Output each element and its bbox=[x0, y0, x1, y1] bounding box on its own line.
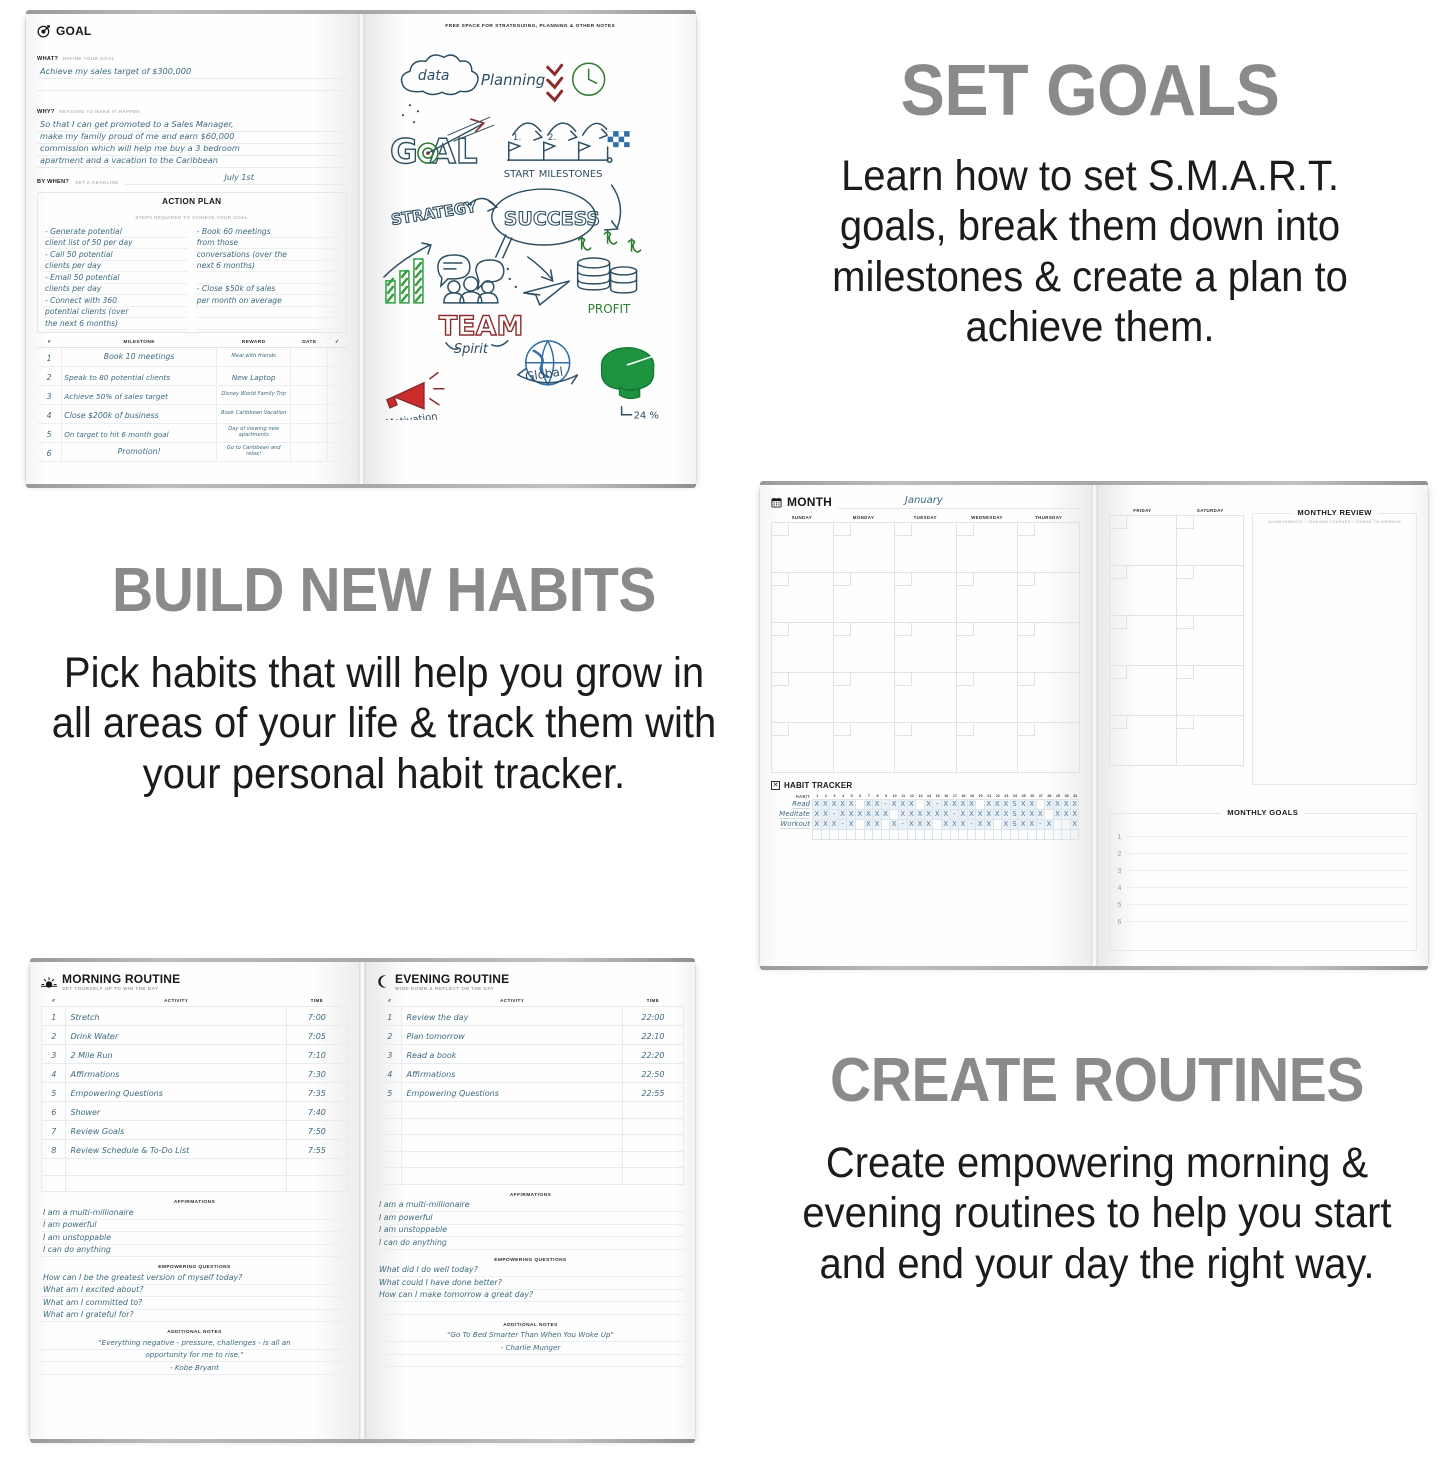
calendar-day-cell[interactable] bbox=[834, 723, 896, 773]
col-time: TIME bbox=[286, 998, 347, 1007]
habit-row[interactable]: Meditate XX-XXXXXXXXXXXX-XXXXXXSXXXXXX bbox=[771, 809, 1080, 819]
row-number[interactable]: 3 bbox=[378, 1045, 402, 1064]
evening-questions-lines[interactable]: What did I do well today? What could I h… bbox=[377, 1265, 684, 1315]
chevrons-doodle bbox=[547, 65, 561, 100]
svg-text:Global: Global bbox=[524, 365, 564, 384]
calendar-day-cell[interactable] bbox=[1177, 666, 1244, 716]
calendar-day-cell[interactable] bbox=[1018, 673, 1080, 723]
plan-left-line: - Connect with 360 bbox=[45, 296, 117, 305]
row-date[interactable] bbox=[291, 404, 328, 423]
row-number: 1 bbox=[47, 354, 52, 363]
row-activity[interactable] bbox=[402, 1151, 622, 1168]
row-number[interactable] bbox=[378, 1135, 402, 1152]
table-row[interactable]: 2Drink Water7:05 bbox=[42, 1026, 348, 1045]
row-date[interactable] bbox=[291, 366, 328, 385]
plan-left-line: - Generate potential bbox=[45, 227, 122, 236]
row-activity[interactable] bbox=[402, 1102, 622, 1119]
evening-routine-page: EVENING ROUTINE WIND DOWN & REFLECT ON T… bbox=[366, 962, 695, 1439]
row-number[interactable]: 6 bbox=[42, 1102, 66, 1121]
table-row[interactable]: 5Empowering Questions22:55 bbox=[378, 1083, 684, 1102]
svg-text:TEAM: TEAM bbox=[438, 311, 522, 342]
weekday-saturday: SATURDAY bbox=[1176, 508, 1244, 515]
table-row[interactable]: 1 Book 10 meetings Meal with friends bbox=[37, 347, 347, 366]
by-when-field[interactable]: BY WHEN? SET A DEADLINE July 1st bbox=[37, 173, 347, 185]
row-time-value: 22:10 bbox=[641, 1032, 664, 1041]
table-row[interactable]: 2 Speak to 80 potential clients New Lapt… bbox=[37, 366, 347, 385]
row-check[interactable] bbox=[328, 423, 347, 442]
goal-number: 2 bbox=[1118, 851, 1122, 858]
table-row[interactable]: 6 Promotion! Go to Caribbean and relax! bbox=[37, 442, 347, 461]
row-activity[interactable]: Affirmations bbox=[66, 1064, 286, 1083]
habit-marks-row[interactable]: XXX-XXXX-XXXXXX-XXXSXX-XX bbox=[813, 819, 1080, 829]
row-activity[interactable] bbox=[66, 1175, 286, 1192]
calendar-day-cell[interactable] bbox=[957, 523, 1019, 573]
row-reward: New Laptop bbox=[232, 373, 276, 382]
habit-tracker-grid: HABIT 1234567891011121314151617181920212… bbox=[771, 794, 1080, 839]
col-activity: ACTIVITY bbox=[402, 998, 622, 1007]
morning-table-header: # ACTIVITY TIME bbox=[42, 998, 348, 1007]
morning-routine-table: # ACTIVITY TIME 1Stretch7:002Drink Water… bbox=[41, 998, 348, 1192]
table-row[interactable]: 4 Close $200k of business Book Caribbean… bbox=[37, 404, 347, 423]
row-number[interactable] bbox=[378, 1168, 402, 1185]
spirit-doodle: Spirit bbox=[453, 342, 488, 357]
calendar-day-cell[interactable] bbox=[895, 573, 957, 623]
feature-create-routines: CREATE ROUTINES Create empowering mornin… bbox=[752, 1050, 1442, 1289]
svg-text:2.: 2. bbox=[547, 133, 556, 143]
weekday-tuesday: TUESDAY bbox=[894, 515, 956, 522]
row-number[interactable]: 2 bbox=[42, 1026, 66, 1045]
table-row[interactable]: 1Stretch7:00 bbox=[42, 1007, 348, 1026]
col-time: TIME bbox=[622, 998, 683, 1007]
row-number[interactable]: 1 bbox=[42, 1007, 66, 1026]
affirmation-line: I am unstoppable bbox=[43, 1233, 111, 1242]
calendar-day-cell[interactable] bbox=[1177, 616, 1244, 666]
row-time[interactable]: 7:40 bbox=[286, 1102, 347, 1121]
row-activity[interactable]: Plan tomorrow bbox=[402, 1026, 622, 1045]
month-spread-gutter bbox=[1091, 485, 1098, 966]
calendar-grid-right bbox=[1109, 515, 1245, 766]
svg-text:STRATEGY: STRATEGY bbox=[389, 198, 477, 229]
table-row[interactable]: 3 Achieve 50% of sales target Disney Wor… bbox=[37, 385, 347, 404]
row-time[interactable] bbox=[622, 1102, 683, 1119]
goal-number: 1 bbox=[1118, 834, 1122, 841]
row-activity[interactable]: Affirmations bbox=[402, 1064, 622, 1083]
row-number[interactable] bbox=[42, 1159, 66, 1176]
morning-rows: 1Stretch7:002Drink Water7:0532 Mile Run7… bbox=[42, 1007, 348, 1192]
row-time[interactable]: 7:00 bbox=[286, 1007, 347, 1026]
profit-coins-doodle: PROFIT bbox=[577, 231, 640, 316]
monthly-review-subtitle: ACHIEVEMENTS / LESSONS LEARNED / THINGS … bbox=[1253, 520, 1416, 524]
row-date[interactable] bbox=[291, 385, 328, 404]
row-time[interactable]: 22:00 bbox=[622, 1007, 683, 1026]
row-number: 6 bbox=[47, 449, 52, 458]
table-row[interactable]: 8Review Schedule & To-Do List7:55 bbox=[42, 1140, 348, 1159]
routine-spread-gutter bbox=[359, 962, 366, 1439]
goal-page-header: GOAL bbox=[37, 24, 347, 38]
row-number: 3 bbox=[47, 392, 52, 401]
why-line-1: So that I can get promoted to a Sales Ma… bbox=[40, 119, 234, 129]
plan-left-line: clients per day bbox=[45, 261, 101, 270]
row-activity-value: Review Goals bbox=[70, 1127, 124, 1136]
table-row[interactable]: 6Shower7:40 bbox=[42, 1102, 348, 1121]
row-number-value: 7 bbox=[51, 1127, 56, 1136]
plan-left-line: - Email 50 potential bbox=[45, 273, 120, 282]
calendar-day-cell[interactable] bbox=[834, 573, 896, 623]
calendar-day-cell[interactable] bbox=[1018, 723, 1080, 773]
why-input-line[interactable]: apartment and a vacation to the Caribbea… bbox=[37, 156, 347, 168]
goal-number: 5 bbox=[1118, 902, 1122, 909]
row-number-value: 1 bbox=[51, 1013, 56, 1022]
monthly-goal-row[interactable]: 2 bbox=[1110, 841, 1417, 858]
monthly-goal-row[interactable]: 6 bbox=[1110, 909, 1417, 926]
calendar-day-cell[interactable] bbox=[957, 573, 1019, 623]
row-time[interactable] bbox=[622, 1168, 683, 1185]
what-input-line[interactable]: Achieve my sales target of $300,000 bbox=[37, 67, 347, 79]
month-value: January bbox=[905, 495, 943, 506]
table-row[interactable]: 4Affirmations7:30 bbox=[42, 1064, 348, 1083]
calendar-day-cell[interactable] bbox=[1018, 523, 1080, 573]
row-check[interactable] bbox=[328, 366, 347, 385]
row-activity[interactable] bbox=[66, 1159, 286, 1176]
habit-marks-row[interactable]: XX-XXXXXXXXXXXX-XXXXXXSXXXXXX bbox=[813, 809, 1080, 819]
morning-routine-subtitle: SET YOURSELF UP TO WIN THE DAY bbox=[62, 986, 180, 991]
plan-left-line: the next 6 months) bbox=[45, 319, 118, 328]
monthly-goal-row[interactable]: 3 bbox=[1110, 858, 1417, 875]
table-row[interactable] bbox=[378, 1151, 684, 1168]
table-row[interactable]: 3Read a book22:20 bbox=[378, 1045, 684, 1064]
row-time[interactable] bbox=[286, 1175, 347, 1192]
calendar-day-cell[interactable] bbox=[895, 673, 957, 723]
row-time-value: 7:30 bbox=[308, 1070, 326, 1079]
calendar-day-cell[interactable] bbox=[1177, 716, 1244, 766]
row-date[interactable] bbox=[291, 347, 328, 366]
calendar-day-cell[interactable] bbox=[957, 623, 1019, 673]
plan-left-line: - Call 50 potential bbox=[45, 250, 113, 259]
calendar-day-cell[interactable] bbox=[1018, 573, 1080, 623]
row-number[interactable] bbox=[42, 1175, 66, 1192]
row-number[interactable]: 7 bbox=[42, 1121, 66, 1140]
row-number: 2 bbox=[47, 373, 52, 382]
morning-routine-header: MORNING ROUTINE SET YOURSELF UP TO WIN T… bbox=[41, 972, 348, 991]
row-time[interactable]: 22:50 bbox=[622, 1064, 683, 1083]
row-check[interactable] bbox=[328, 404, 347, 423]
row-number[interactable]: 2 bbox=[378, 1026, 402, 1045]
action-plan-right-column[interactable]: - Book 60 meetings from those conversati… bbox=[196, 226, 340, 330]
calendar-day-cell[interactable] bbox=[1018, 623, 1080, 673]
calendar-day-cell[interactable] bbox=[1110, 716, 1177, 766]
monthly-review-page: FRIDAY SATURDAY bbox=[1098, 485, 1429, 966]
question-line: How can I be the greatest version of mys… bbox=[43, 1273, 242, 1282]
row-number[interactable]: 1 bbox=[378, 1007, 402, 1026]
question-line: What am I grateful for? bbox=[43, 1310, 134, 1319]
action-plan-left-column[interactable]: - Generate potential client list of 50 p… bbox=[44, 226, 188, 330]
table-row[interactable]: 32 Mile Run7:10 bbox=[42, 1045, 348, 1064]
why-field[interactable]: WHY? REASONS TO MAKE IT HAPPEN So that I… bbox=[37, 100, 347, 168]
row-activity-value: Affirmations bbox=[406, 1070, 455, 1079]
table-row[interactable]: 7Review Goals7:50 bbox=[42, 1121, 348, 1140]
row-date[interactable] bbox=[291, 442, 328, 461]
evening-affirmations-title: AFFIRMATIONS bbox=[377, 1193, 684, 1198]
svg-text:Motivation: Motivation bbox=[384, 411, 438, 420]
calendar-day-cell[interactable] bbox=[1110, 616, 1177, 666]
row-activity-value: Review Schedule & To-Do List bbox=[70, 1146, 189, 1155]
col-number: # bbox=[42, 998, 66, 1007]
row-time-value: 7:00 bbox=[308, 1013, 326, 1022]
svg-text:1.: 1. bbox=[512, 133, 521, 143]
what-hint: DEFINE YOUR GOAL bbox=[63, 56, 115, 61]
calendar-day-cell[interactable] bbox=[772, 623, 834, 673]
evening-routine-header: EVENING ROUTINE WIND DOWN & REFLECT ON T… bbox=[377, 972, 684, 991]
col-check: ✓ bbox=[328, 340, 347, 348]
table-row[interactable]: 5Empowering Questions7:35 bbox=[42, 1083, 348, 1102]
calendar-day-cell[interactable] bbox=[957, 673, 1019, 723]
row-activity[interactable]: Review the day bbox=[402, 1007, 622, 1026]
affirmation-line: I can do anything bbox=[43, 1245, 111, 1254]
why-hint: REASONS TO MAKE IT HAPPEN bbox=[59, 109, 140, 114]
row-reward: Go to Caribbean and relax! bbox=[219, 446, 288, 457]
habit-tracker: ✕ HABIT TRACKER HABIT 123456789101112131… bbox=[771, 781, 1080, 839]
affirmation-line: I am powerful bbox=[43, 1220, 97, 1229]
row-time[interactable]: 22:20 bbox=[622, 1045, 683, 1064]
row-time[interactable] bbox=[286, 1159, 347, 1176]
table-row[interactable]: 2Plan tomorrow22:10 bbox=[378, 1026, 684, 1045]
by-when-input-line[interactable]: July 1st bbox=[125, 173, 347, 185]
row-activity-value: Stretch bbox=[70, 1013, 99, 1022]
morning-affirmations-lines[interactable]: I am a multi-millionaire I am powerful I… bbox=[41, 1207, 348, 1257]
row-number[interactable]: 5 bbox=[378, 1083, 402, 1102]
weekday-monday: MONDAY bbox=[833, 515, 895, 522]
calendar-day-cell[interactable] bbox=[834, 523, 896, 573]
arrow-doodle bbox=[527, 257, 551, 279]
question-line: What could I have done better? bbox=[379, 1278, 502, 1287]
row-number-value: 3 bbox=[51, 1051, 56, 1060]
why-line-4: apartment and a vacation to the Caribbea… bbox=[40, 155, 218, 165]
row-time[interactable]: 7:35 bbox=[286, 1083, 347, 1102]
morning-questions-lines[interactable]: How can I be the greatest version of mys… bbox=[41, 1272, 348, 1322]
goal-notebook-spread: GOAL WHAT? DEFINE YOUR GOAL Achieve my s… bbox=[26, 14, 696, 484]
row-check[interactable] bbox=[328, 442, 347, 461]
evening-notes-lines[interactable]: "Go To Bed Smarter Than When You Woke Up… bbox=[377, 1330, 684, 1368]
feature-set-goals-body: Learn how to set S.M.A.R.T. goals, break… bbox=[783, 151, 1397, 352]
habit-name: Workout bbox=[780, 820, 810, 829]
svg-text:PROFIT: PROFIT bbox=[587, 302, 630, 316]
evening-routine-table: # ACTIVITY TIME 1Review the day22:002Pla… bbox=[377, 998, 684, 1185]
habit-row[interactable]: Workout XXX-XXXX-XXXXXX-XXXSXX-XX bbox=[771, 819, 1080, 829]
table-row[interactable] bbox=[42, 1175, 348, 1192]
monthly-review-title: MONTHLY REVIEW bbox=[1291, 508, 1377, 517]
row-number[interactable]: 8 bbox=[42, 1140, 66, 1159]
row-time[interactable] bbox=[622, 1135, 683, 1152]
row-time-value: 7:55 bbox=[308, 1146, 326, 1155]
routine-notebook-spread: MORNING ROUTINE SET YOURSELF UP TO WIN T… bbox=[30, 962, 695, 1439]
calendar-day-cell[interactable] bbox=[1110, 566, 1177, 616]
row-number[interactable] bbox=[378, 1118, 402, 1135]
monthly-goals-title: MONTHLY GOALS bbox=[1221, 808, 1304, 817]
habit-marks-row[interactable]: XXXXXXX-XXXX-XXXXXXXSXXXXXX bbox=[813, 799, 1080, 809]
row-activity[interactable]: Stretch bbox=[66, 1007, 286, 1026]
target-icon bbox=[37, 24, 51, 38]
calendar-day-cell[interactable] bbox=[772, 573, 834, 623]
row-milestone: Close $200k of business bbox=[64, 411, 159, 420]
affirmation-line: I am a multi-millionaire bbox=[43, 1208, 134, 1217]
row-number-value: 5 bbox=[387, 1089, 392, 1098]
table-row[interactable]: 4Affirmations22:50 bbox=[378, 1064, 684, 1083]
monthly-goals-panel: MONTHLY GOALS 1 2 3 4 5 6 bbox=[1109, 813, 1418, 951]
monthly-review-panel[interactable]: MONTHLY REVIEW ACHIEVEMENTS / LESSONS LE… bbox=[1252, 513, 1417, 785]
evening-routine-title: EVENING ROUTINE bbox=[395, 972, 509, 986]
morning-routine-title: MORNING ROUTINE bbox=[62, 972, 180, 986]
affirmation-line: I am a multi-millionaire bbox=[379, 1200, 470, 1209]
row-check[interactable] bbox=[328, 347, 347, 366]
row-activity[interactable]: Review Schedule & To-Do List bbox=[66, 1140, 286, 1159]
milestone-header-row: # MILESTONE REWARD DATE ✓ bbox=[37, 340, 347, 348]
table-row[interactable] bbox=[42, 1159, 348, 1176]
row-activity[interactable] bbox=[402, 1135, 622, 1152]
row-activity-value: Empowering Questions bbox=[406, 1089, 498, 1098]
monthly-goal-row[interactable]: 1 bbox=[1110, 824, 1417, 841]
start-flag-doodle bbox=[508, 142, 519, 160]
row-number[interactable] bbox=[378, 1151, 402, 1168]
row-number[interactable]: 4 bbox=[378, 1064, 402, 1083]
row-activity-value: Affirmations bbox=[70, 1070, 119, 1079]
habit-row[interactable]: Read XXXXXXX-XXXX-XXXXXXXSXXXXXX bbox=[771, 799, 1080, 809]
row-time[interactable]: 7:30 bbox=[286, 1064, 347, 1083]
row-time-value: 7:50 bbox=[308, 1127, 326, 1136]
row-time-value: 7:40 bbox=[308, 1108, 326, 1117]
row-time[interactable] bbox=[622, 1118, 683, 1135]
morning-notes-title: ADDITIONAL NOTES bbox=[41, 1330, 348, 1335]
monthly-goal-row[interactable]: 5 bbox=[1110, 892, 1417, 909]
row-time-value: 22:55 bbox=[641, 1089, 664, 1098]
calendar-day-cell[interactable] bbox=[772, 523, 834, 573]
row-reward: Book Caribbean Vacation bbox=[219, 411, 288, 416]
feature-set-goals: SET GOALS Learn how to set S.M.A.R.T. go… bbox=[760, 55, 1420, 352]
table-row[interactable] bbox=[378, 1118, 684, 1135]
row-activity[interactable]: Review Goals bbox=[66, 1121, 286, 1140]
calendar-right-columns: FRIDAY SATURDAY bbox=[1109, 495, 1245, 785]
row-time[interactable]: 22:55 bbox=[622, 1083, 683, 1102]
row-number[interactable]: 4 bbox=[42, 1064, 66, 1083]
row-milestone: On target to hit 6 month goal bbox=[64, 430, 168, 439]
row-activity[interactable]: Shower bbox=[66, 1102, 286, 1121]
calendar-day-cell[interactable] bbox=[895, 623, 957, 673]
row-time[interactable]: 22:10 bbox=[622, 1026, 683, 1045]
calendar-day-cell[interactable] bbox=[1177, 516, 1244, 566]
evening-rows: 1Review the day22:002Plan tomorrow22:103… bbox=[378, 1007, 684, 1185]
calendar-day-cell[interactable] bbox=[834, 623, 896, 673]
monthly-goal-row[interactable]: 4 bbox=[1110, 875, 1417, 892]
why-line-3: commission which will help me buy a 3 be… bbox=[40, 143, 240, 153]
table-row[interactable]: 5 On target to hit 6 month goal Day of v… bbox=[37, 423, 347, 442]
note-line: - Kobe Bryant bbox=[41, 1363, 348, 1372]
affirmation-line: I am unstoppable bbox=[379, 1225, 447, 1234]
month-label: MONTH bbox=[787, 495, 832, 509]
row-number-value: 1 bbox=[387, 1013, 392, 1022]
plan-right-line: per month on average bbox=[197, 296, 282, 305]
table-row[interactable]: 1Review the day22:00 bbox=[378, 1007, 684, 1026]
what-label: WHAT? bbox=[37, 56, 58, 62]
curved-arrow-doodle bbox=[611, 185, 620, 227]
row-time[interactable]: 7:05 bbox=[286, 1026, 347, 1045]
what-field[interactable]: WHAT? DEFINE YOUR GOAL Achieve my sales … bbox=[37, 47, 347, 91]
table-row[interactable] bbox=[378, 1168, 684, 1185]
calendar-day-cell[interactable] bbox=[772, 723, 834, 773]
row-reward: Day of viewing new apartments bbox=[219, 427, 288, 438]
row-time-value: 7:10 bbox=[308, 1051, 326, 1060]
row-time[interactable] bbox=[622, 1151, 683, 1168]
row-time[interactable]: 7:50 bbox=[286, 1121, 347, 1140]
row-date[interactable] bbox=[291, 423, 328, 442]
goal-target-doodle: G AL bbox=[389, 117, 493, 172]
row-activity[interactable] bbox=[402, 1168, 622, 1185]
morning-notes-lines[interactable]: "Everything negative - pressure, challen… bbox=[41, 1337, 348, 1375]
row-number-value: 3 bbox=[387, 1051, 392, 1060]
row-number[interactable] bbox=[378, 1102, 402, 1119]
notes-page: FREE SPACE FOR STRATEGIZING, PLANNING & … bbox=[365, 14, 697, 484]
habit-mark-cell[interactable] bbox=[1070, 829, 1080, 840]
row-activity-value: 2 Mile Run bbox=[70, 1051, 112, 1060]
habit-marks-row[interactable] bbox=[813, 829, 1080, 839]
evening-affirmations-lines[interactable]: I am a multi-millionaire I am powerful I… bbox=[377, 1200, 684, 1250]
calendar-day-cell[interactable] bbox=[1177, 566, 1244, 616]
calendar-grid-left bbox=[771, 522, 1080, 773]
calendar-day-cell[interactable] bbox=[895, 523, 957, 573]
note-line: opportunity for me to rise." bbox=[41, 1350, 348, 1359]
what-input-line-2[interactable] bbox=[37, 79, 347, 91]
habit-row[interactable] bbox=[771, 829, 1080, 839]
calendar-day-cell[interactable] bbox=[772, 673, 834, 723]
notes-page-header: FREE SPACE FOR STRATEGIZING, PLANNING & … bbox=[376, 24, 686, 29]
doodle-canvas: data Planning bbox=[376, 35, 686, 420]
row-number[interactable]: 5 bbox=[42, 1083, 66, 1102]
weekday-header-right: FRIDAY SATURDAY bbox=[1109, 508, 1245, 515]
megaphone-doodle: Motivation bbox=[384, 373, 443, 420]
row-number-value: 2 bbox=[51, 1032, 56, 1041]
planning-doodle: Planning bbox=[480, 71, 544, 89]
feature-build-habits: BUILD NEW HABITS Pick habits that will h… bbox=[24, 560, 744, 799]
row-activity[interactable]: Empowering Questions bbox=[402, 1083, 622, 1102]
svg-text:START: START bbox=[503, 169, 535, 180]
row-check[interactable] bbox=[328, 385, 347, 404]
row-activity[interactable]: 2 Mile Run bbox=[66, 1045, 286, 1064]
feature-create-routines-body: Create empowering morning & evening rout… bbox=[776, 1138, 1418, 1289]
row-activity[interactable]: Drink Water bbox=[66, 1026, 286, 1045]
milestones-timeline-doodle: 1. 2. START MILESTONES bbox=[503, 123, 629, 180]
table-row[interactable] bbox=[378, 1102, 684, 1119]
row-activity[interactable]: Empowering Questions bbox=[66, 1083, 286, 1102]
calendar-day-cell[interactable] bbox=[895, 723, 957, 773]
plan-right-line: - Book 60 meetings bbox=[197, 227, 271, 236]
row-activity[interactable] bbox=[402, 1118, 622, 1135]
plan-left-line: clients per day bbox=[45, 284, 101, 293]
calendar-day-cell[interactable] bbox=[1110, 666, 1177, 716]
table-row[interactable] bbox=[378, 1135, 684, 1152]
row-number[interactable]: 3 bbox=[42, 1045, 66, 1064]
row-time[interactable]: 7:55 bbox=[286, 1140, 347, 1159]
team-doodle: TEAM Spirit bbox=[437, 255, 522, 357]
morning-routine-page: MORNING ROUTINE SET YOURSELF UP TO WIN T… bbox=[30, 962, 359, 1439]
global-doodle: Global bbox=[517, 341, 577, 385]
calendar-day-cell[interactable] bbox=[1110, 516, 1177, 566]
svg-text:G AL: G AL bbox=[389, 132, 477, 172]
calendar-day-cell[interactable] bbox=[834, 673, 896, 723]
goal-title: GOAL bbox=[56, 24, 91, 38]
goal-number: 3 bbox=[1118, 868, 1122, 875]
row-time[interactable]: 7:10 bbox=[286, 1045, 347, 1064]
calendar-day-cell[interactable] bbox=[957, 723, 1019, 773]
month-input-line[interactable]: January bbox=[837, 496, 1080, 509]
row-activity[interactable]: Read a book bbox=[402, 1045, 622, 1064]
